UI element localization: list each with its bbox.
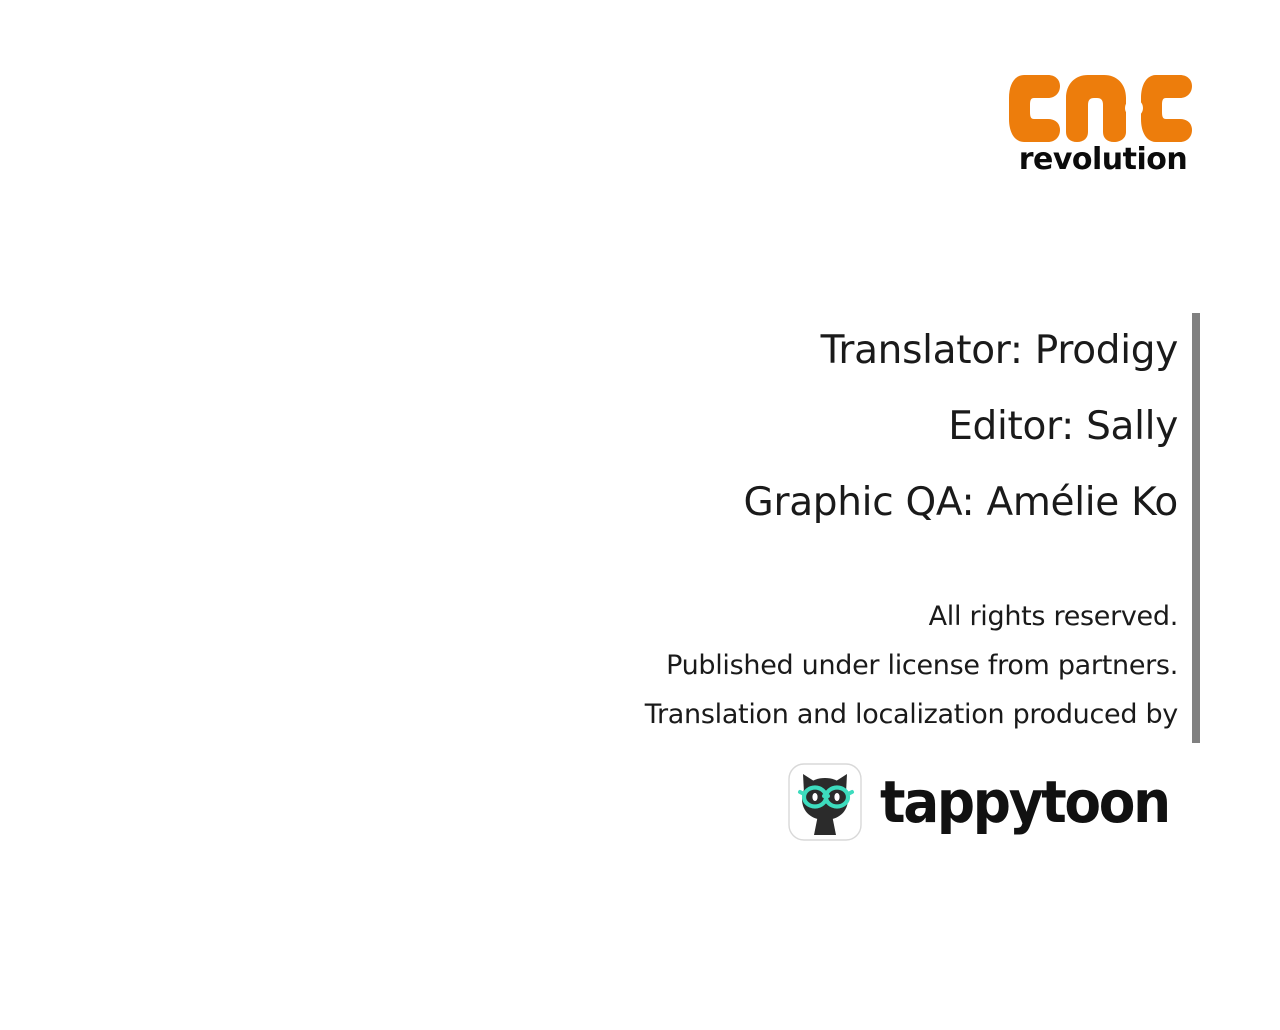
legal-line-rights: All rights reserved. — [520, 592, 1178, 641]
legal-line-license: Published under license from partners. — [520, 641, 1178, 690]
legal-line-producer: Translation and localization produced by — [520, 690, 1178, 739]
cat-with-glasses-icon — [788, 763, 862, 841]
credit-line-editor: Editor: Sally — [520, 389, 1178, 465]
vertical-divider — [1192, 313, 1200, 743]
cnc-mark-icon — [1008, 72, 1194, 142]
cnc-revolution-wordmark: revolution — [1008, 143, 1198, 177]
legal-block: All rights reserved. Published under lic… — [520, 592, 1178, 739]
credit-line-graphic-qa: Graphic QA: Amélie Ko — [520, 465, 1178, 541]
credits-page: revolution Translator: Prodigy Editor: S… — [0, 0, 1280, 1030]
tappytoon-wordmark: tappytoon — [880, 772, 1169, 832]
cnc-revolution-logo: revolution — [1008, 72, 1198, 180]
credit-line-translator: Translator: Prodigy — [520, 313, 1178, 389]
tappytoon-logo: tappytoon — [862, 760, 1194, 844]
credits-block: Translator: Prodigy Editor: Sally Graphi… — [520, 313, 1178, 541]
